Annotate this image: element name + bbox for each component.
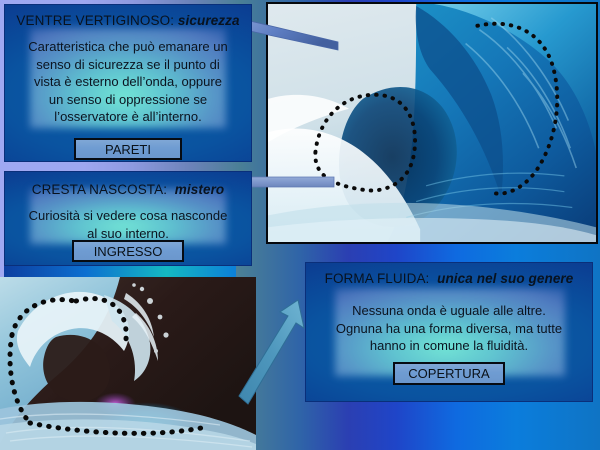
panel-heading: VENTRE VERTIGINOSO: sicurezza — [4, 13, 252, 28]
decorative-strip — [4, 266, 236, 277]
shore-wave-illustration — [0, 277, 256, 450]
heading-emphasis: sicurezza — [178, 13, 240, 28]
body-line: l’osservatore è all’interno. — [4, 108, 252, 126]
heading-emphasis: mistero — [175, 182, 224, 197]
heading-emphasis: unica nel suo genere — [437, 271, 573, 286]
panel-body: Curiosità si vedere cosa nasconde al suo… — [4, 207, 252, 242]
body-line: Caratteristica che può emanare un — [4, 38, 252, 56]
heading-main: FORMA FLUIDA: — [325, 271, 430, 286]
slide-canvas: VENTRE VERTIGINOSO: sicurezza Caratteris… — [0, 0, 600, 450]
panel-forma-fluida: FORMA FLUIDA: unica nel suo genere Nessu… — [305, 262, 593, 402]
body-line: Ognuna ha una forma diversa, ma tutte — [305, 320, 593, 338]
panel-heading: FORMA FLUIDA: unica nel suo genere — [305, 271, 593, 286]
body-line: senso di sicurezza se il punto di — [4, 56, 252, 74]
panel-body: Caratteristica che può emanare un senso … — [4, 38, 252, 126]
heading-main: CRESTA NASCOSTA: — [32, 182, 167, 197]
body-line: Curiosità si vedere cosa nasconde — [4, 207, 252, 225]
tag-pareti[interactable]: PARETI — [74, 138, 182, 160]
body-line: hanno in comune la fluidità. — [305, 337, 593, 355]
tag-copertura[interactable]: COPERTURA — [393, 362, 505, 385]
photo-shore-wave — [0, 277, 256, 450]
body-line: Nessuna onda è uguale alle altre. — [305, 302, 593, 320]
panel-body: Nessuna onda è uguale alle altre. Ognuna… — [305, 302, 593, 355]
panel-heading: CRESTA NASCOSTA: mistero — [4, 182, 252, 197]
body-line: vista è esterno dell’onda, oppure — [4, 73, 252, 91]
tag-ingresso[interactable]: INGRESSO — [72, 240, 184, 262]
panel-ventre-vertiginoso: VENTRE VERTIGINOSO: sicurezza Caratteris… — [4, 4, 252, 162]
heading-main: VENTRE VERTIGINOSO: — [16, 13, 174, 28]
body-line: un senso di oppressione se — [4, 91, 252, 109]
